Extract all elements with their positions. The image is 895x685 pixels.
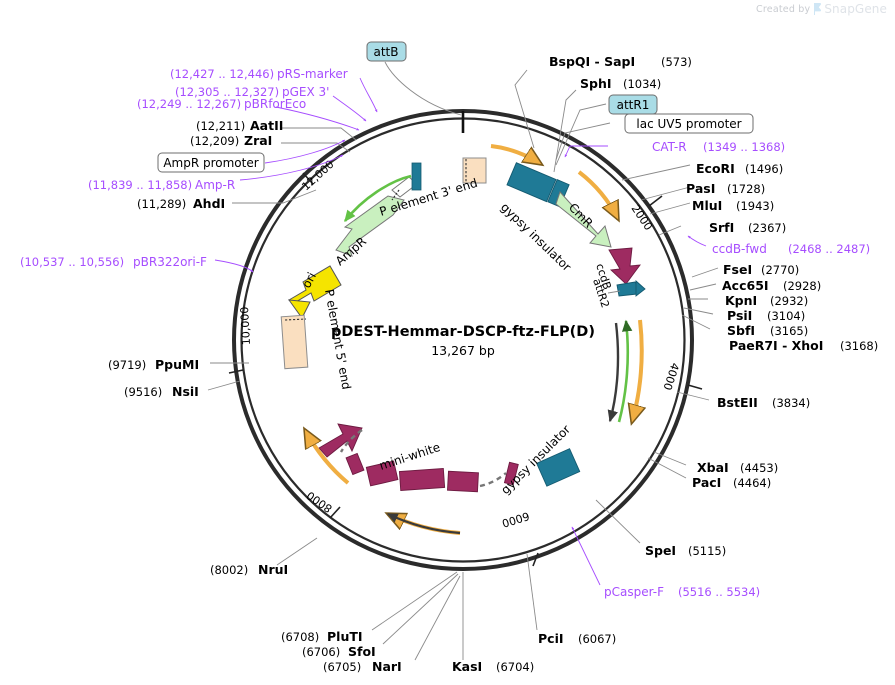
enzyme-label-paer7i-xhoi: PaeR7I - XhoI (3168) [729, 338, 878, 353]
feature-box-attb: attB [367, 42, 406, 61]
primer-label-pbrforeco: (12,249 .. 12,267) pBRforEco [137, 97, 306, 111]
enzyme-name: SfoI [348, 644, 376, 659]
enzyme-label-sbfi: SbfI (3165) [727, 323, 808, 338]
primer-range: (5516 .. 5534) [678, 585, 760, 599]
enzyme-name: NarI [372, 659, 402, 674]
enzyme-name: Acc65I [722, 278, 769, 293]
enzyme-label-acc65i: Acc65I (2928) [722, 278, 821, 293]
plasmid-title: pDEST-Hemmar-DSCP-ftz-FLP(D) [331, 324, 595, 340]
primer-range: (2468 .. 2487) [788, 242, 870, 256]
enzyme-pos: (11,289) [137, 197, 186, 211]
enzyme-label-xbai: XbaI (4453) [697, 460, 778, 475]
enzyme-pos: (3165) [770, 324, 808, 338]
enzyme-name: BstEII [717, 395, 758, 410]
enzyme-name: MluI [692, 198, 722, 213]
enzyme-name: AhdI [193, 196, 225, 211]
primer-range: (12,249 .. 12,267) [137, 97, 241, 111]
enzyme-label-bspqi-sapi: BspQI - SapI (573) [549, 54, 692, 69]
enzyme-label-mlui: MluI (1943) [692, 198, 774, 213]
enzyme-pos: (6708) [281, 630, 319, 644]
enzyme-name: NruI [258, 562, 288, 577]
enzyme-label-fsei: FseI (2770) [723, 262, 799, 277]
enzyme-pos: (1728) [727, 182, 765, 196]
enzyme-pos: (8002) [210, 563, 248, 577]
primer-range: (12,427 .. 12,446) [170, 67, 274, 81]
enzyme-name: PasI [686, 181, 715, 196]
feature-box-label: attR1 [617, 98, 650, 112]
enzyme-pos: (2932) [770, 294, 808, 308]
enzyme-pos: (6067) [578, 632, 616, 646]
feature-gypsy-insulator-bottom: gypsy insulator [498, 422, 580, 497]
primer-label-prs-marker: (12,427 .. 12,446) pRS-marker [170, 67, 348, 81]
primer-name: CAT-R [652, 140, 687, 154]
enzyme-pos: (12,211) [196, 119, 245, 133]
enzyme-pos: (3168) [840, 339, 878, 353]
primer-name: Amp-R [195, 178, 235, 192]
enzyme-label-paci: PacI (4464) [692, 475, 771, 490]
enzyme-name: PsiI [727, 308, 752, 323]
feature-box-label: attB [374, 45, 399, 59]
feature-gypsy-insulator-top: gypsy insulator [498, 163, 574, 274]
primer-range: (1349 .. 1368) [703, 140, 785, 154]
enzyme-pos: (4453) [740, 461, 778, 475]
enzyme-label-ahdi: (11,289) AhdI [137, 196, 225, 211]
primer-label-pbr322ori-f: (10,537 .. 10,556) pBR322ori-F [20, 255, 207, 269]
enzyme-label-nsii: (9516) NsiI [124, 384, 199, 399]
enzyme-label-ecori: EcoRI (1496) [696, 161, 783, 176]
feature-label-gypsy-top: gypsy insulator [498, 200, 574, 274]
axis-tick-label: 6000 [500, 509, 531, 530]
primer-label-amp-r: (11,839 .. 11,858) Amp-R [88, 178, 235, 192]
enzyme-pos: (6704) [496, 660, 534, 674]
feature-cmr: CmR [556, 192, 611, 247]
enzyme-name: EcoRI [696, 161, 735, 176]
enzyme-pos: (12,209) [190, 134, 239, 148]
enzyme-pos: (9516) [124, 385, 162, 399]
enzyme-pos: (5115) [688, 544, 726, 558]
primer-label-cat-r: CAT-R (1349 .. 1368) [652, 140, 785, 154]
feature-box-ampr-promoter: AmpR promoter [158, 153, 264, 172]
enzyme-name: SbfI [727, 323, 755, 338]
enzyme-name: SrfI [709, 220, 734, 235]
primer-name: ccdB-fwd [712, 242, 767, 256]
enzyme-pos: (2928) [783, 279, 821, 293]
enzyme-label-sfoi: (6706) SfoI [302, 644, 376, 659]
enzyme-label-spei: SpeI (5115) [645, 543, 726, 558]
feature-label-mini-white: mini-white [378, 440, 442, 473]
primer-name: pRS-marker [277, 67, 348, 81]
feature-ampr: AmpR [333, 176, 417, 268]
enzyme-label-kasi: KasI (6704) [452, 659, 534, 674]
enzyme-label-pluti: (6708) PluTI [281, 629, 363, 644]
enzyme-pos: (573) [661, 55, 692, 69]
enzyme-name: PpuMI [155, 357, 199, 372]
enzyme-label-nrui: (8002) NruI [210, 562, 288, 577]
enzyme-pos: (2770) [761, 263, 799, 277]
enzyme-label-nari: (6705) NarI [323, 659, 402, 674]
enzyme-pos: (6705) [323, 660, 361, 674]
enzyme-name: PacI [692, 475, 721, 490]
primer-name: pBR322ori-F [133, 255, 207, 269]
enzyme-pos: (1496) [745, 162, 783, 176]
enzyme-label-bstei: BstEII (3834) [717, 395, 810, 410]
enzyme-label-pasi: PasI (1728) [686, 181, 765, 196]
enzyme-name: ZraI [244, 133, 272, 148]
enzyme-name: BspQI - SapI [549, 54, 635, 69]
enzyme-name: FseI [723, 262, 752, 277]
enzyme-name: KasI [452, 659, 482, 674]
enzyme-name: KpnI [725, 293, 757, 308]
enzyme-name: XbaI [697, 460, 729, 475]
enzyme-pos: (9719) [108, 358, 146, 372]
primer-label-pcasper-f: pCasper-F (5516 .. 5534) [604, 585, 760, 599]
enzyme-name: PluTI [327, 629, 363, 644]
plasmid-size: 13,267 bp [431, 343, 495, 358]
feature-box-label: lac UV5 promoter [636, 117, 741, 131]
primer-range: (10,537 .. 10,556) [20, 255, 124, 269]
enzyme-label-ppumi: (9719) PpuMI [108, 357, 199, 372]
axis-tick-label: 10,000 [238, 306, 253, 345]
enzyme-pos: (3834) [772, 396, 810, 410]
feature-box-label: AmpR promoter [163, 156, 258, 170]
enzyme-label-pcii: PciI (6067) [538, 631, 616, 646]
enzyme-label-psii: PsiI (3104) [727, 308, 805, 323]
enzyme-name: NsiI [172, 384, 199, 399]
enzyme-name: PciI [538, 631, 564, 646]
enzyme-pos: (1034) [623, 77, 661, 91]
enzyme-label-sphi: SphI (1034) [580, 76, 661, 91]
enzyme-label-kpni: KpnI (2932) [725, 293, 808, 308]
feature-box-attr1: attR1 [609, 95, 657, 114]
enzyme-pos: (4464) [733, 476, 771, 490]
enzyme-name: PaeR7I - XhoI [729, 338, 823, 353]
plasmid-diagram: 2000 4000 6000 8000 10,000 12,000 AmpR [0, 0, 895, 685]
primer-label-ccdb-fwd: ccdB-fwd (2468 .. 2487) [712, 242, 870, 256]
feature-box-lac-uv5-promoter: lac UV5 promoter [625, 114, 753, 133]
enzyme-pos: (3104) [767, 309, 805, 323]
enzyme-name: SpeI [645, 543, 676, 558]
enzyme-label-srfi: SrfI (2367) [709, 220, 786, 235]
primer-name: pCasper-F [604, 585, 664, 599]
enzyme-pos: (6706) [302, 645, 340, 659]
primer-range: (11,839 .. 11,858) [88, 178, 192, 192]
primer-name: pBRforEco [244, 97, 306, 111]
enzyme-label-zrai: (12,209) ZraI [190, 133, 272, 148]
enzyme-pos: (2367) [748, 221, 786, 235]
enzyme-name: AatII [250, 118, 283, 133]
plasmid-map-canvas: Created by SnapGene [0, 0, 895, 685]
enzyme-pos: (1943) [736, 199, 774, 213]
enzyme-label-aatii: (12,211) AatII [196, 118, 283, 133]
enzyme-name: SphI [580, 76, 612, 91]
feature-attr2: attR2 [590, 277, 645, 310]
